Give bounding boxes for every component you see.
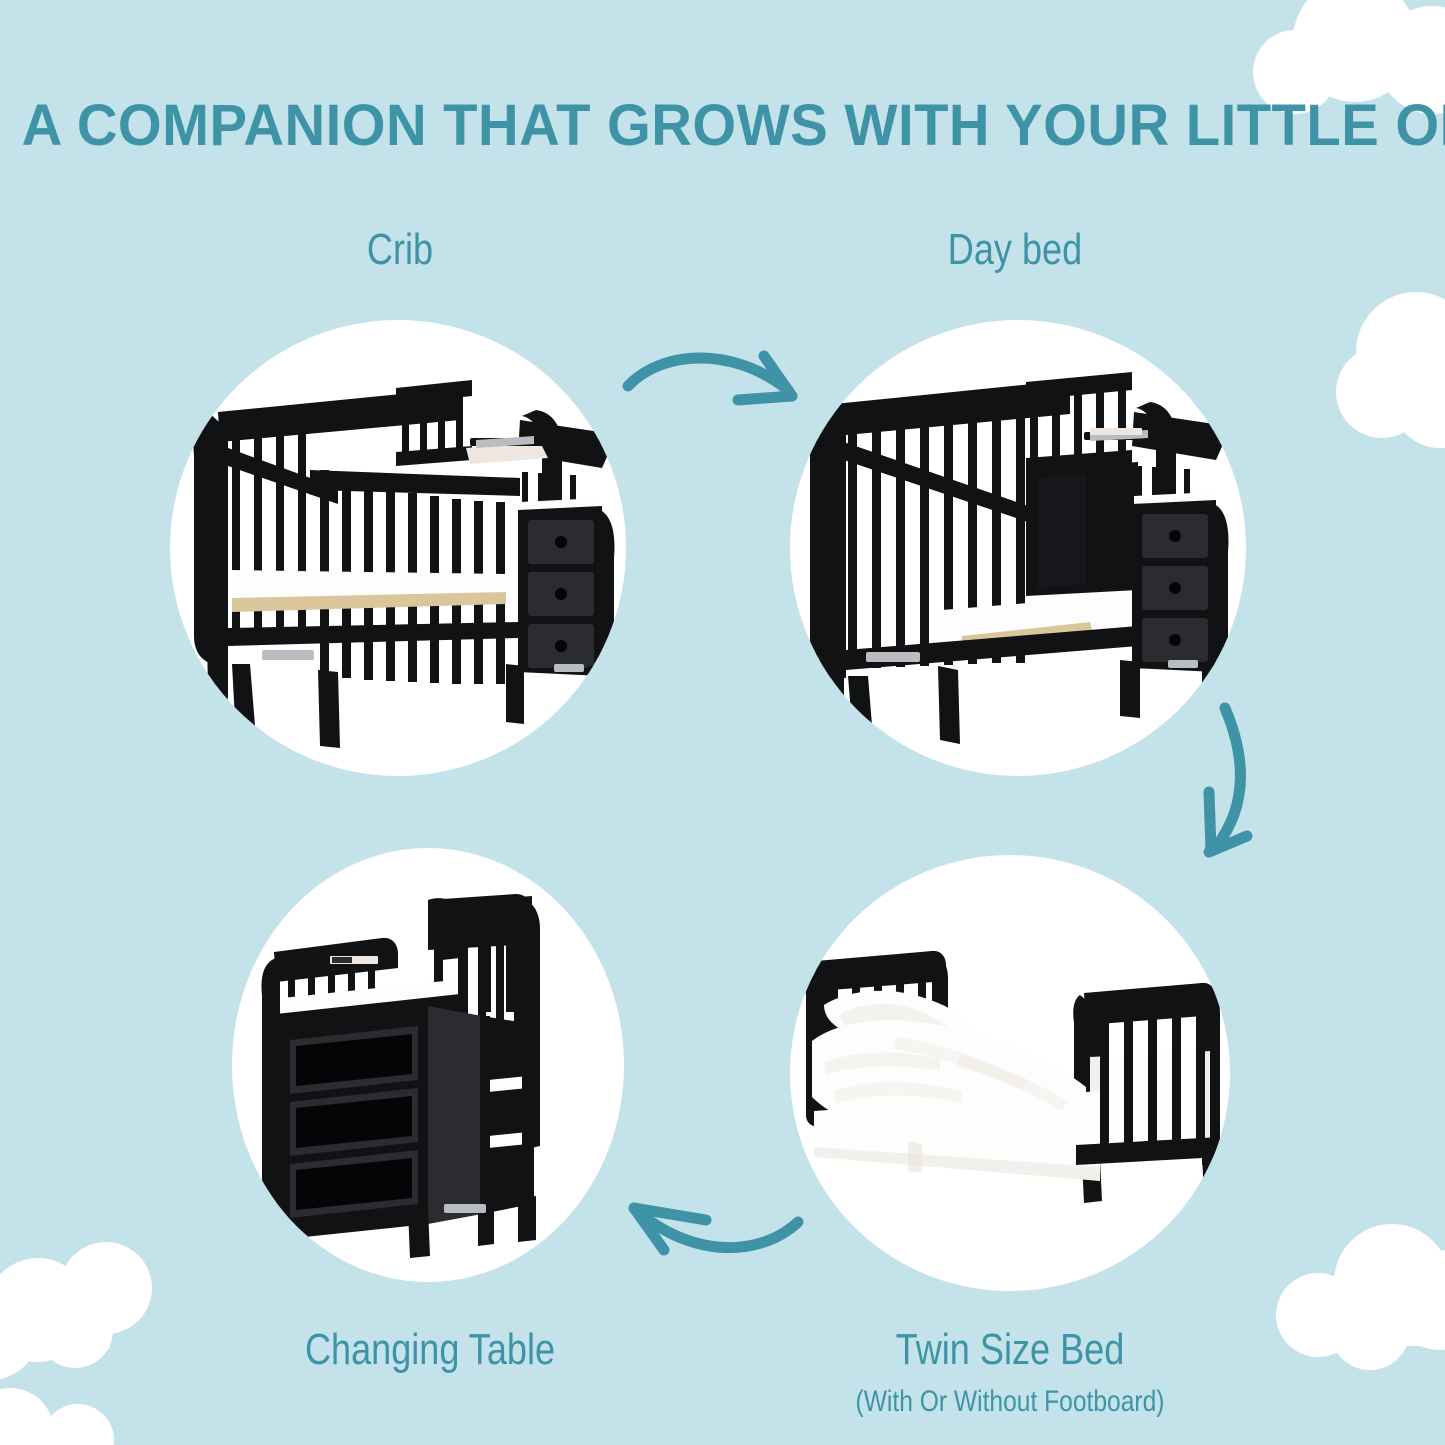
curved-arrow-right-icon: [620, 338, 830, 438]
stage-card-changing-table[interactable]: [232, 848, 624, 1282]
stage-card-crib[interactable]: [170, 320, 626, 776]
twin-bed-illustration: [790, 855, 1230, 1291]
stage-sublabel-twin-size-bed: (With Or Without Footboard): [821, 1385, 1198, 1419]
arrow-twin-bed-to-changing-table: [612, 1190, 832, 1290]
infographic-canvas: A COMPANION THAT GROWS WITH YOUR LITTLE …: [0, 0, 1445, 1445]
curved-arrow-down-icon: [1175, 700, 1305, 870]
stage-label-twin-size-bed: Twin Size Bed: [821, 1325, 1198, 1375]
stage-label-changing-table: Changing Table: [233, 1325, 627, 1375]
curved-arrow-left-icon: [612, 1190, 832, 1290]
cloud-icon-right-upper: [1336, 292, 1445, 448]
crib-illustration: [170, 320, 626, 776]
stage-label-day-bed: Day bed: [826, 225, 1203, 275]
arrow-day-bed-to-twin-bed: [1175, 700, 1305, 870]
changing-table-illustration: [232, 848, 624, 1282]
stage-card-twin-size-bed[interactable]: [790, 855, 1230, 1291]
cloud-icon-bottom-left: [0, 1242, 152, 1445]
page-title: A COMPANION THAT GROWS WITH YOUR LITTLE …: [22, 92, 1424, 159]
cloud-icon-bottom-right: [1276, 1224, 1445, 1370]
stage-label-crib: Crib: [211, 225, 588, 275]
arrow-crib-to-day-bed: [620, 338, 830, 438]
